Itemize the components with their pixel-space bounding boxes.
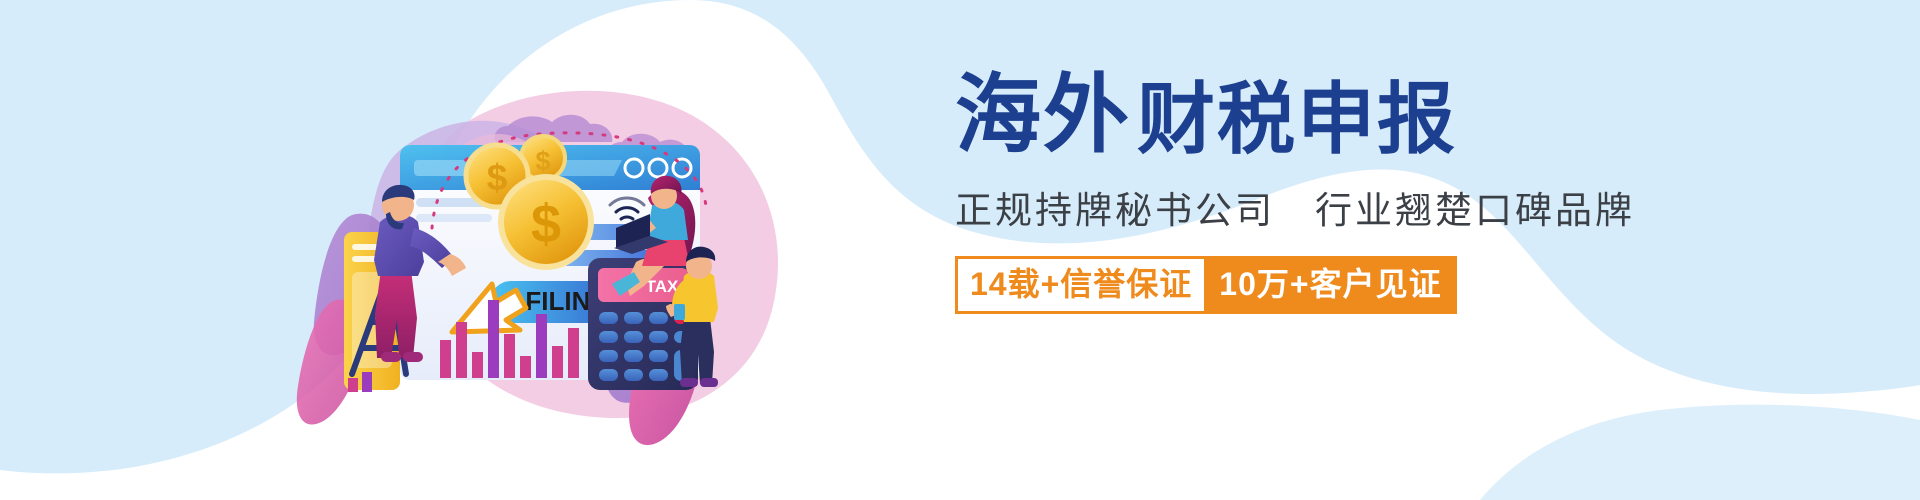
man2-shoe-2 — [700, 378, 718, 387]
man-shoe-1 — [381, 352, 401, 362]
headline: 海外 财税申报 — [955, 72, 1655, 158]
promo-banner: FILING $ $ $ — [0, 0, 1920, 500]
man2-shoe-1 — [680, 378, 698, 387]
badge-years: 14载+信誉保证 — [955, 256, 1204, 314]
man-shoe-2 — [403, 352, 423, 362]
calculator-label: TAX — [646, 277, 679, 296]
svg-text:$: $ — [487, 157, 508, 198]
badge-customers: 10万+客户见证 — [1204, 256, 1456, 314]
svg-text:$: $ — [535, 146, 550, 176]
headline-part-2: 财税申报 — [1137, 80, 1457, 158]
copy-block: 海外 财税申报 正规持牌秘书公司 行业翘楚口碑品牌 14载+信誉保证 10万+客… — [955, 72, 1655, 372]
headline-part-1: 海外 — [955, 72, 1131, 158]
phone — [674, 304, 685, 320]
coin-large: $ — [501, 177, 591, 267]
svg-text:$: $ — [531, 194, 561, 254]
subtitle: 正规持牌秘书公司 行业翘楚口碑品牌 — [955, 180, 1655, 234]
badge-group: 14载+信誉保证 10万+客户见证 — [955, 256, 1655, 314]
